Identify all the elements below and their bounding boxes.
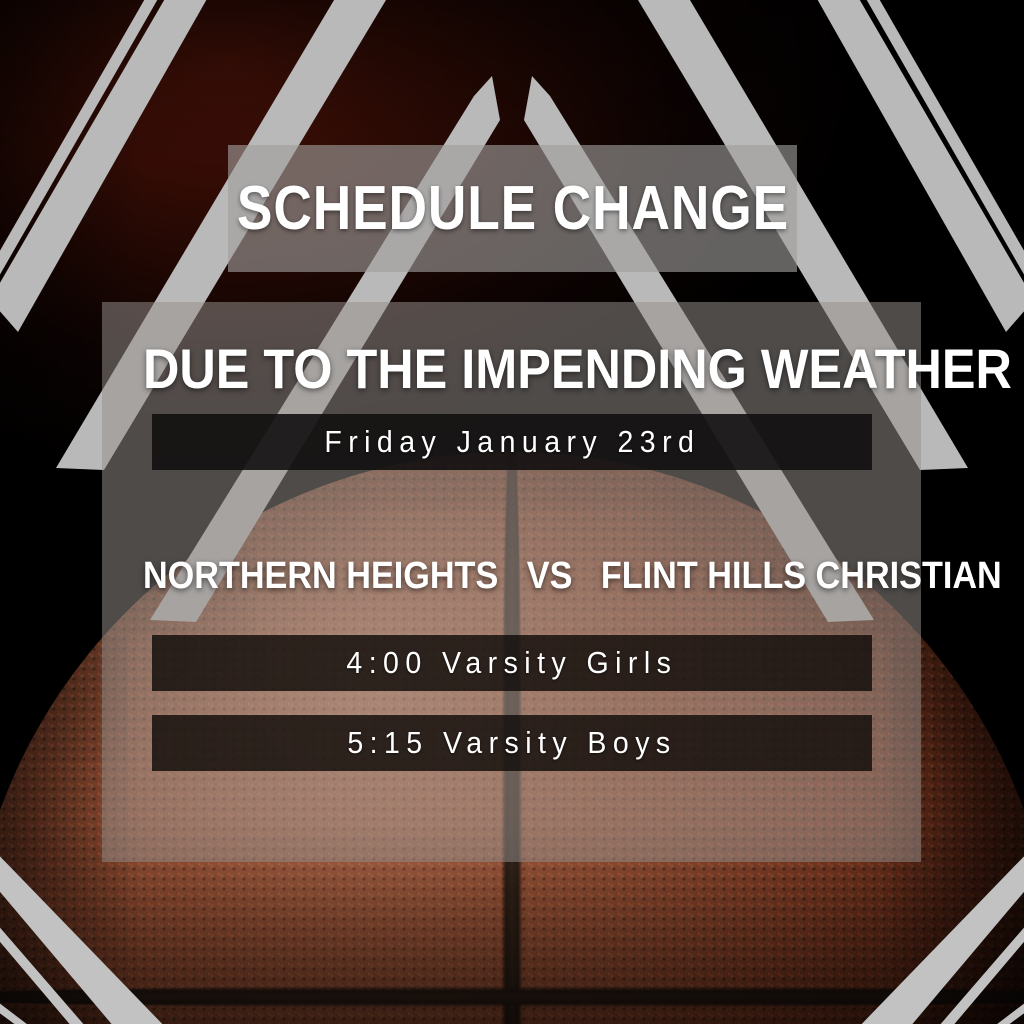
game-1-time-level: 4:00 Varsity Girls [347, 645, 678, 681]
announcement-panel: DUE TO THE IMPENDING WEATHER Friday Janu… [102, 302, 921, 862]
matchup-text: NORTHERN HEIGHTS VS FLINT HILLS CHRISTIA… [143, 555, 880, 598]
page-title: SCHEDULE CHANGE [236, 173, 788, 244]
game-2-time-level: 5:15 Varsity Boys [347, 725, 676, 761]
game-bar-2: 5:15 Varsity Boys [152, 715, 872, 771]
game-bar-1: 4:00 Varsity Girls [152, 635, 872, 691]
title-banner: SCHEDULE CHANGE [228, 145, 797, 272]
date-text: Friday January 23rd [324, 424, 700, 460]
headline-text: DUE TO THE IMPENDING WEATHER [143, 336, 880, 401]
schedule-change-poster: SCHEDULE CHANGE DUE TO THE IMPENDING WEA… [0, 0, 1024, 1024]
date-bar: Friday January 23rd [152, 414, 872, 470]
